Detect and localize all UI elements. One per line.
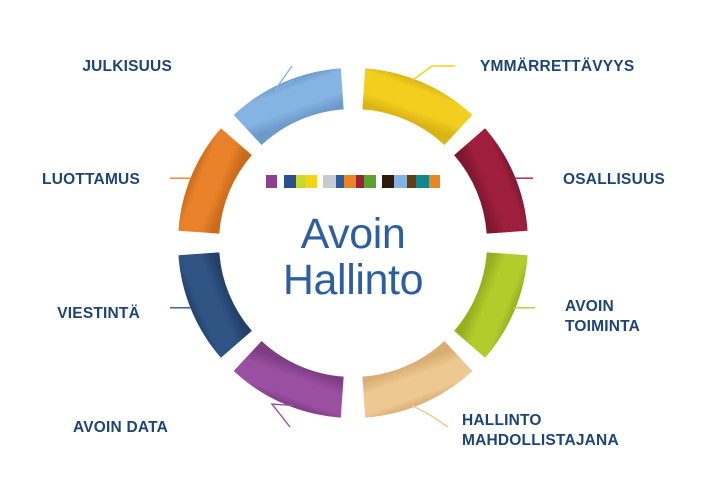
swatch-blue <box>284 175 296 188</box>
segment-label-avoin-toiminta[interactable]: AVOINTOIMINTA <box>565 298 640 335</box>
segment-label-line: HALLINTO <box>462 412 542 429</box>
swatch-green <box>364 175 376 188</box>
logo-text-line-2: Hallinto <box>283 256 423 304</box>
segment-label-viestinta[interactable]: VIESTINTÄ <box>57 305 140 322</box>
swatch-steelblue <box>336 175 344 188</box>
swatch-purple <box>266 175 277 188</box>
segment-label-luottamus[interactable]: LUOTTAMUS <box>42 171 140 188</box>
ring-segment-ymmarrettavyys[interactable] <box>362 68 472 145</box>
ring-segment-luottamus[interactable] <box>178 128 251 233</box>
ring-segment-osallisuus[interactable] <box>454 128 527 233</box>
ring-segment-julkisuus[interactable] <box>234 68 344 145</box>
segment-label-line: TOIMINTA <box>565 318 640 335</box>
swatch-yellow <box>305 175 317 188</box>
segment-label-line: LUOTTAMUS <box>42 171 140 188</box>
ring-segment-avoin-data[interactable] <box>234 341 344 418</box>
logo-color-bar <box>266 175 440 188</box>
segment-label-line: AVOIN DATA <box>73 419 168 436</box>
connector-line-avoin-data <box>272 404 294 427</box>
connector-line-ymmarrettavyys <box>412 66 455 80</box>
segment-label-line: OSALLISUUS <box>563 171 665 188</box>
segment-label-hallinto-mahdollistajana[interactable]: HALLINTOMAHDOLLISTAJANA <box>462 412 619 449</box>
ring-segment-hallinto-mahdollistajana[interactable] <box>362 341 472 418</box>
swatch-orange <box>344 175 356 188</box>
swatch-darkbrown <box>382 175 394 188</box>
swatch-orange2 <box>429 175 440 188</box>
segment-label-julkisuus[interactable]: JULKISUUS <box>82 58 172 75</box>
open-government-ring-diagram: YMMÄRRETTÄVYYSOSALLISUUSAVOINTOIMINTAHAL… <box>0 0 710 493</box>
center-logo-group: Avoin Hallinto <box>266 175 440 304</box>
swatch-gray <box>323 175 336 188</box>
connector-line-hallinto-mahdollistajana <box>412 406 448 427</box>
segment-label-line: JULKISUUS <box>82 58 172 75</box>
segment-label-ymmarrettavyys[interactable]: YMMÄRRETTÄVYYS <box>480 58 634 75</box>
ring-segment-avoin-toiminta[interactable] <box>454 252 527 357</box>
logo-text-line-1: Avoin <box>301 210 406 258</box>
segment-label-avoin-data[interactable]: AVOIN DATA <box>73 419 168 436</box>
swatch-yellowgreen <box>296 175 305 188</box>
segment-label-line: VIESTINTÄ <box>57 305 140 322</box>
swatch-teal <box>416 175 429 188</box>
swatch-brown <box>407 175 416 188</box>
ring-segment-viestinta[interactable] <box>178 252 251 357</box>
swatch-lightblue <box>394 175 407 188</box>
segment-label-line: YMMÄRRETTÄVYYS <box>480 58 634 75</box>
swatch-darkred <box>356 175 364 188</box>
segment-label-line: MAHDOLLISTAJANA <box>462 432 619 449</box>
segment-label-line: AVOIN <box>565 298 614 315</box>
infographic-canvas: YMMÄRRETTÄVYYSOSALLISUUSAVOINTOIMINTAHAL… <box>0 0 710 493</box>
segment-label-osallisuus[interactable]: OSALLISUUS <box>563 171 665 188</box>
